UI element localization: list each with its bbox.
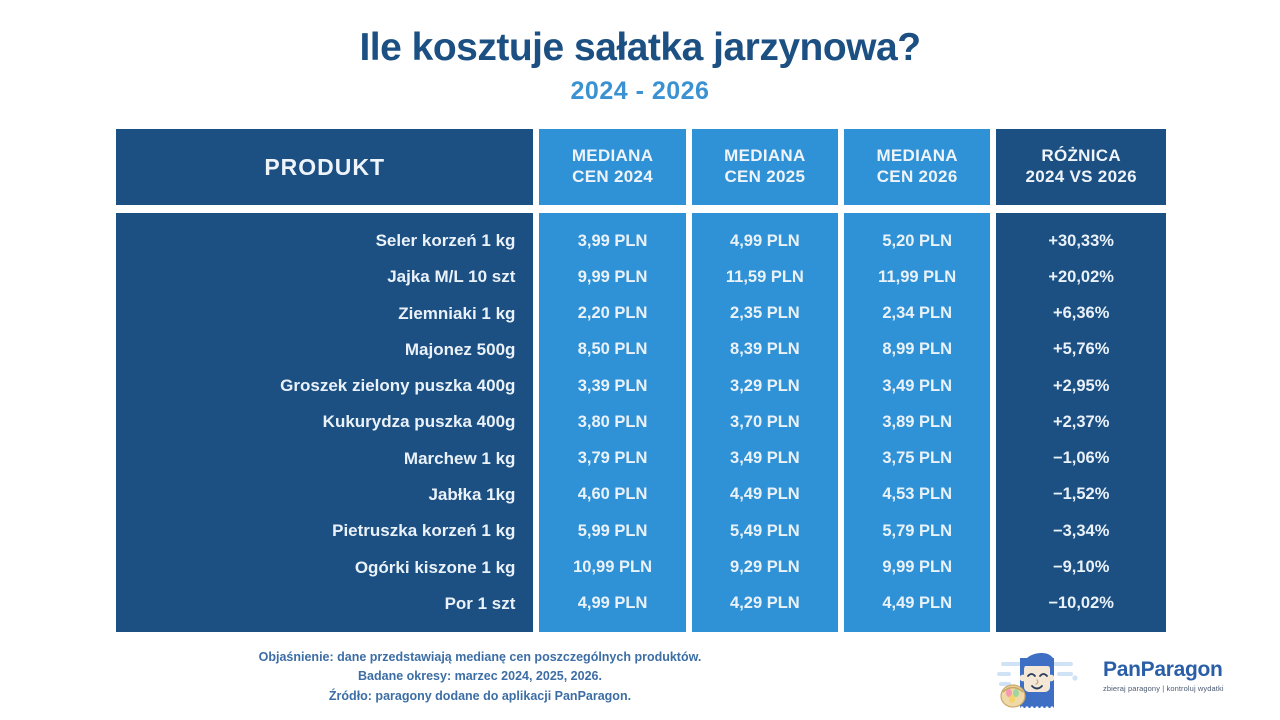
header-gap [539,205,685,213]
header-product: PRODUKT [116,129,533,205]
table-row: Kukurydza puszka 400g [116,404,533,440]
header-line1: RÓŻNICA [1041,146,1121,167]
table-cell: 11,59 PLN [692,259,838,295]
table-cell: 8,39 PLN [692,332,838,368]
median-2026-cells: 5,20 PLN 11,99 PLN 2,34 PLN 8,99 PLN 3,4… [844,213,990,632]
header-difference: RÓŻNICA 2024 VS 2026 [996,129,1166,205]
column-difference: RÓŻNICA 2024 VS 2026 +30,33% +20,02% +6,… [996,129,1166,632]
table-cell: −9,10% [996,549,1166,585]
table-cell: +5,76% [996,332,1166,368]
table-cell: 8,50 PLN [539,332,685,368]
table-cell: 3,79 PLN [539,441,685,477]
header-product-label: PRODUKT [264,153,385,181]
table-cell: 4,29 PLN [692,586,838,622]
table-cell: 3,99 PLN [539,223,685,259]
header-line1: MEDIANA [724,146,805,167]
table-row: Seler korzeń 1 kg [116,223,533,259]
footnote-line-2: Badane okresy: marzec 2024, 2025, 2026. [140,667,820,686]
logo-text-block: PanParagon zbieraj paragony | kontroluj … [1103,658,1224,693]
table-cell: 5,49 PLN [692,513,838,549]
column-median-2026: MEDIANA CEN 2026 5,20 PLN 11,99 PLN 2,34… [844,129,990,632]
table-cell: +6,36% [996,296,1166,332]
table-cell: +20,02% [996,259,1166,295]
table-cell: 2,20 PLN [539,296,685,332]
header-gap [996,205,1166,213]
table-cell: −1,06% [996,441,1166,477]
table-row: Jabłka 1kg [116,477,533,513]
table-cell: +2,95% [996,368,1166,404]
header-line2: CEN 2026 [877,167,958,188]
page-subtitle: 2024 - 2026 [0,77,1280,106]
table-cell: 3,49 PLN [692,441,838,477]
table-row: Por 1 szt [116,586,533,622]
table-cell: −10,02% [996,586,1166,622]
column-median-2024: MEDIANA CEN 2024 3,99 PLN 9,99 PLN 2,20 … [539,129,685,632]
median-2025-cells: 4,99 PLN 11,59 PLN 2,35 PLN 8,39 PLN 3,2… [692,213,838,632]
table-cell: 10,99 PLN [539,549,685,585]
table-cell: 4,99 PLN [539,586,685,622]
table-cell: 4,53 PLN [844,477,990,513]
table-cell: 9,29 PLN [692,549,838,585]
column-median-2025: MEDIANA CEN 2025 4,99 PLN 11,59 PLN 2,35… [692,129,838,632]
table-cell: 5,99 PLN [539,513,685,549]
table-cell: 5,20 PLN [844,223,990,259]
median-2024-cells: 3,99 PLN 9,99 PLN 2,20 PLN 8,50 PLN 3,39… [539,213,685,632]
header-line1: MEDIANA [876,146,957,167]
table-cell: 4,49 PLN [844,586,990,622]
header-gap [844,205,990,213]
table-cell: 2,34 PLN [844,296,990,332]
footnote-line-1: Objaśnienie: dane przedstawiają medianę … [140,648,820,667]
header-line2: CEN 2025 [724,167,805,188]
table-row: Jajka M/L 10 szt [116,259,533,295]
table-cell: 4,60 PLN [539,477,685,513]
header-gap [116,205,533,213]
header-median-2026: MEDIANA CEN 2026 [844,129,990,205]
table-cell: 11,99 PLN [844,259,990,295]
table-row: Groszek zielony puszka 400g [116,368,533,404]
footnote-line-3: Źródło: paragony dodane do aplikacji Pan… [140,687,820,706]
table-cell: 3,80 PLN [539,404,685,440]
table-row: Marchew 1 kg [116,441,533,477]
table-row: Majonez 500g [116,332,533,368]
table-cell: 3,89 PLN [844,404,990,440]
table-cell: 4,99 PLN [692,223,838,259]
column-product: PRODUKT Seler korzeń 1 kg Jajka M/L 10 s… [116,129,533,632]
header-line1: MEDIANA [572,146,653,167]
table-cell: 3,75 PLN [844,441,990,477]
table-cell: −3,34% [996,513,1166,549]
table-cell: +2,37% [996,404,1166,440]
table-cell: +30,33% [996,223,1166,259]
table-cell: 3,49 PLN [844,368,990,404]
table-cell: 9,99 PLN [844,549,990,585]
price-comparison-table: PRODUKT Seler korzeń 1 kg Jajka M/L 10 s… [116,129,1166,632]
title-block: Ile kosztuje sałatka jarzynowa? 2024 - 2… [0,0,1280,106]
header-median-2025: MEDIANA CEN 2025 [692,129,838,205]
table-cell: 9,99 PLN [539,259,685,295]
logo-name: PanParagon [1103,658,1224,682]
header-median-2024: MEDIANA CEN 2024 [539,129,685,205]
table-cell: 2,35 PLN [692,296,838,332]
panparagon-logo: PanParagon zbieraj paragony | kontroluj … [995,648,1230,714]
header-line2: CEN 2024 [572,167,653,188]
table-cell: −1,52% [996,477,1166,513]
header-gap [692,205,838,213]
table-cell: 5,79 PLN [844,513,990,549]
table-cell: 4,49 PLN [692,477,838,513]
page-title: Ile kosztuje sałatka jarzynowa? [0,26,1280,70]
table-row: Ziemniaki 1 kg [116,296,533,332]
footnote-block: Objaśnienie: dane przedstawiają medianę … [140,648,820,706]
table-cell: 3,39 PLN [539,368,685,404]
table-cell: 8,99 PLN [844,332,990,368]
table-row: Pietruszka korzeń 1 kg [116,513,533,549]
logo-tagline: zbieraj paragony | kontroluj wydatki [1103,684,1224,693]
header-line2: 2024 VS 2026 [1025,167,1136,188]
table-row: Ogórki kiszone 1 kg [116,549,533,585]
product-cells: Seler korzeń 1 kg Jajka M/L 10 szt Ziemn… [116,213,533,632]
mascot-icon [995,648,1095,712]
table-cell: 3,29 PLN [692,368,838,404]
difference-cells: +30,33% +20,02% +6,36% +5,76% +2,95% +2,… [996,213,1166,632]
table-cell: 3,70 PLN [692,404,838,440]
infographic-page: Ile kosztuje sałatka jarzynowa? 2024 - 2… [0,0,1280,720]
